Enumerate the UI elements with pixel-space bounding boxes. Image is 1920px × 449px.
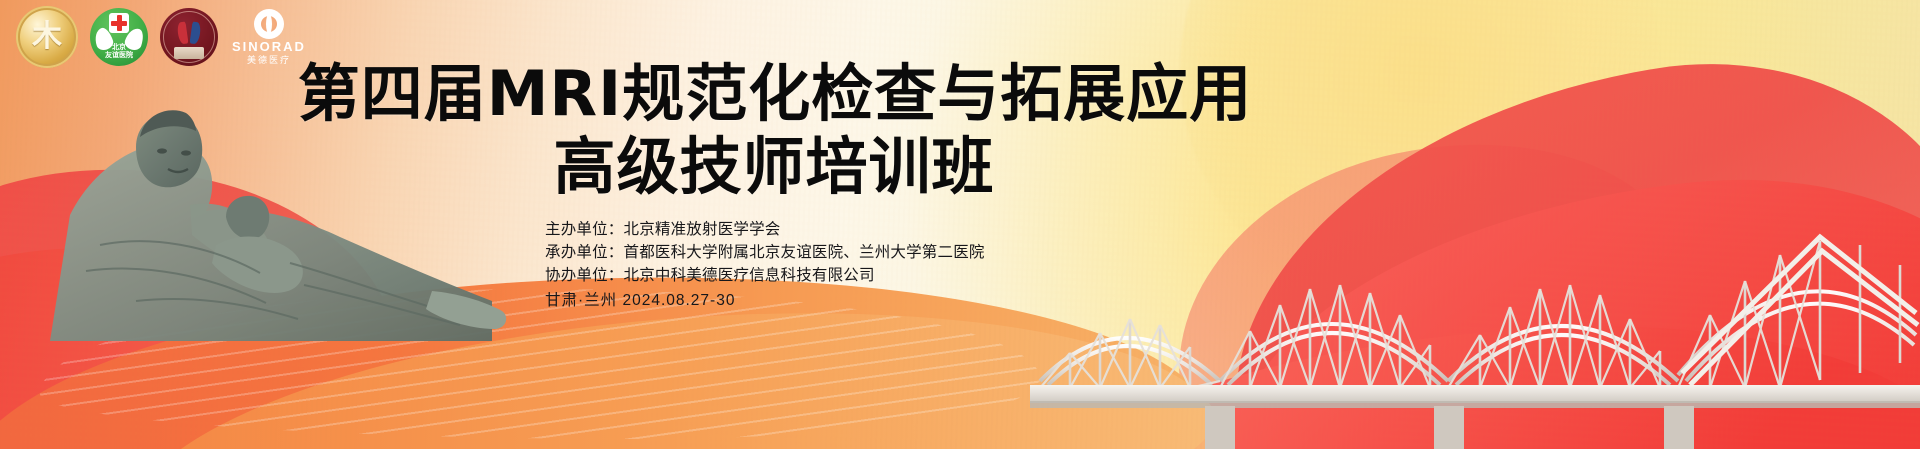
gold-medal-logo-mark: 木 (32, 22, 62, 52)
lanzhou-university-second-hospital-logo (160, 8, 218, 66)
sinorad-logo-subtitle: 美德医疗 (247, 55, 291, 65)
title-line-1: 第四届MRI规范化检查与拓展应用 (0, 62, 1530, 125)
hospital-logo-line1: 北京 (112, 44, 126, 51)
conference-banner: 木 北京 友谊医院 SINORAD 美德医疗 第四届MRI规范化检查与拓展应用 … (0, 0, 1920, 449)
sponsor-logo-row: 木 北京 友谊医院 SINORAD 美德医疗 (16, 6, 306, 68)
lanzhou-zhongshan-bridge-illustration (1030, 185, 1920, 449)
co-organizer-line: 协办单位：北京中科美德医疗信息科技有限公司 (545, 264, 985, 287)
location-date-line: 甘肃·兰州 2024.08.27-30 (545, 289, 985, 312)
sinorad-logo: SINORAD 美德医疗 (232, 9, 306, 65)
logo-emblem-icon (176, 22, 202, 46)
red-cross-icon (109, 13, 129, 33)
host-line: 承办单位：首都医科大学附属北京友谊医院、兰州大学第二医院 (545, 241, 985, 264)
logo-gate-icon (174, 47, 204, 59)
hospital-logo-line2: 友谊医院 (105, 52, 133, 59)
organizer-line: 主办单位：北京精准放射医学学会 (545, 218, 985, 241)
banner-title: 第四届MRI规范化检查与拓展应用 高级技师培训班 (0, 62, 1530, 198)
title-line-2: 高级技师培训班 (0, 135, 1530, 198)
hospital-logo-caption: 北京 友谊医院 (105, 44, 133, 66)
sinorad-logo-title: SINORAD (232, 40, 306, 54)
beijing-friendship-hospital-logo: 北京 友谊医院 (90, 8, 148, 66)
sinorad-eye-icon (254, 9, 284, 39)
gold-medal-logo: 木 (16, 6, 78, 68)
event-details: 主办单位：北京精准放射医学学会 承办单位：首都医科大学附属北京友谊医院、兰州大学… (545, 218, 985, 312)
